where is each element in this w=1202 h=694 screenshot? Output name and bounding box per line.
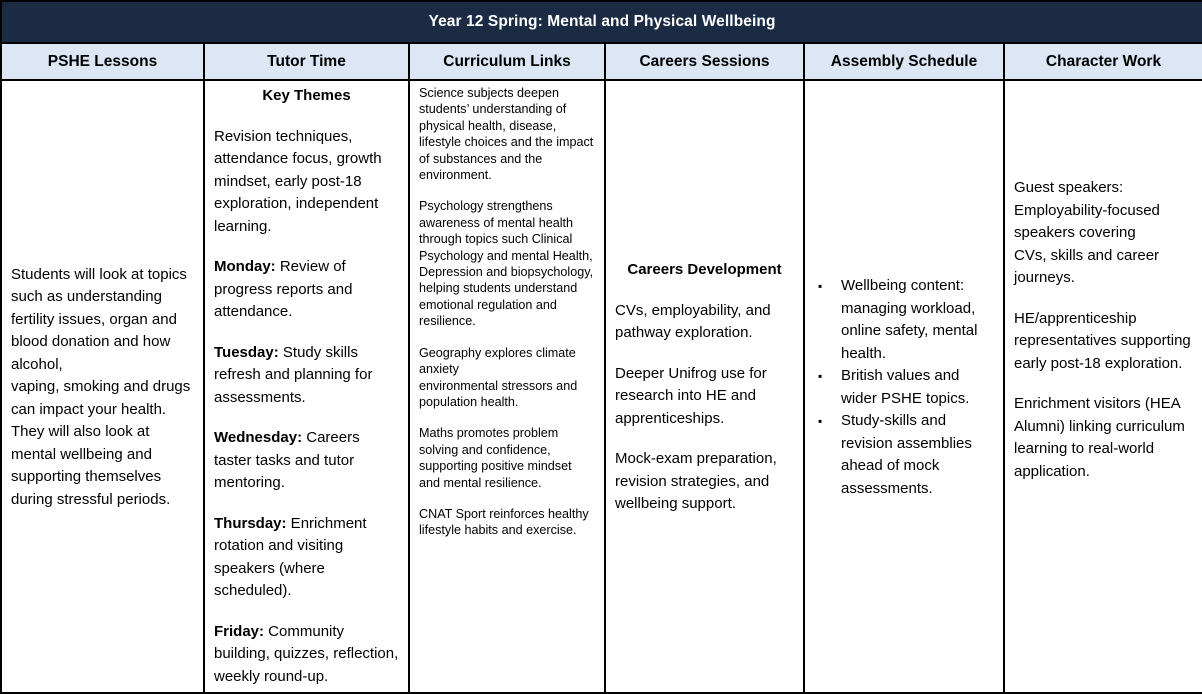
tutor-day-tuesday: Tuesday: Study skills refresh and planni… bbox=[214, 342, 399, 410]
assembly-bullet-wellbeing: Wellbeing content: managing workload, on… bbox=[841, 277, 977, 362]
cell-pshe-lessons: Students will look at topics such as und… bbox=[1, 80, 204, 693]
assembly-bullet-list: ▪Wellbeing content: managing workload, o… bbox=[811, 275, 994, 500]
curriculum-paragraph-psychology: Psychology strengthens awareness of ment… bbox=[419, 198, 596, 329]
column-header-character-work: Character Work bbox=[1004, 43, 1202, 80]
tutor-day-wednesday: Wednesday: Careers taster tasks and tuto… bbox=[214, 427, 399, 495]
list-item: ▪Wellbeing content: managing workload, o… bbox=[841, 275, 994, 365]
table-title-row: Year 12 Spring: Mental and Physical Well… bbox=[1, 1, 1202, 43]
assembly-bullet-british-values: British values and wider PSHE topics. bbox=[841, 367, 969, 407]
column-header-tutor-time: Tutor Time bbox=[204, 43, 409, 80]
curriculum-plan-table: Year 12 Spring: Mental and Physical Well… bbox=[0, 0, 1202, 694]
cell-careers-sessions: Careers Development CVs, employability, … bbox=[605, 80, 804, 693]
day-label-thursday: Thursday: bbox=[214, 515, 287, 532]
day-label-tuesday: Tuesday: bbox=[214, 344, 279, 361]
careers-development-heading: Careers Development bbox=[615, 259, 794, 282]
day-label-wednesday: Wednesday: bbox=[214, 429, 302, 446]
character-paragraph-enrichment: Enrichment visitors (HEA Alumni) linking… bbox=[1014, 393, 1193, 483]
column-header-curriculum-links: Curriculum Links bbox=[409, 43, 605, 80]
table-body-row: Students will look at topics such as und… bbox=[1, 80, 1202, 693]
character-paragraph-guest-speakers: Guest speakers: Employability-focused sp… bbox=[1014, 177, 1193, 290]
list-item: ▪British values and wider PSHE topics. bbox=[841, 365, 994, 410]
day-label-friday: Friday: bbox=[214, 623, 264, 640]
column-header-assembly-schedule: Assembly Schedule bbox=[804, 43, 1004, 80]
tutor-intro-paragraph: Revision techniques, attendance focus, g… bbox=[214, 126, 399, 239]
table-header-row: PSHE Lessons Tutor Time Curriculum Links… bbox=[1, 43, 1202, 80]
cell-character-work: Guest speakers: Employability-focused sp… bbox=[1004, 80, 1202, 693]
pshe-paragraph: Students will look at topics such as und… bbox=[11, 264, 194, 512]
curriculum-paragraph-science: Science subjects deepen students’ unders… bbox=[419, 85, 596, 183]
curriculum-paragraph-geography: Geography explores climate anxiety envir… bbox=[419, 345, 596, 411]
curriculum-paragraph-maths: Maths promotes problem solving and confi… bbox=[419, 425, 596, 491]
square-bullet-icon: ▪ bbox=[818, 365, 822, 388]
column-header-careers-sessions: Careers Sessions bbox=[605, 43, 804, 80]
tutor-day-friday: Friday: Community building, quizzes, ref… bbox=[214, 621, 399, 689]
cell-tutor-time: Key Themes Revision techniques, attendan… bbox=[204, 80, 409, 693]
page-root: Year 12 Spring: Mental and Physical Well… bbox=[0, 0, 1202, 602]
page-title: Year 12 Spring: Mental and Physical Well… bbox=[1, 1, 1202, 43]
careers-paragraph-cvs: CVs, employability, and pathway explorat… bbox=[615, 300, 794, 345]
careers-paragraph-mock-exam: Mock-exam preparation, revision strategi… bbox=[615, 448, 794, 516]
square-bullet-icon: ▪ bbox=[818, 410, 822, 433]
list-item: ▪Study-skills and revision assemblies ah… bbox=[841, 410, 994, 500]
cell-assembly-schedule: ▪Wellbeing content: managing workload, o… bbox=[804, 80, 1004, 693]
tutor-day-monday: Monday: Review of progress reports and a… bbox=[214, 256, 399, 324]
character-paragraph-he-reps: HE/apprenticeship representatives suppor… bbox=[1014, 308, 1193, 376]
column-header-pshe-lessons: PSHE Lessons bbox=[1, 43, 204, 80]
assembly-bullet-study-skills: Study-skills and revision assemblies ahe… bbox=[841, 412, 972, 497]
tutor-key-themes-heading: Key Themes bbox=[214, 85, 399, 108]
curriculum-paragraph-cnat-sport: CNAT Sport reinforces healthy lifestyle … bbox=[419, 506, 596, 539]
square-bullet-icon: ▪ bbox=[818, 275, 822, 298]
day-label-monday: Monday: bbox=[214, 258, 276, 275]
cell-curriculum-links: Science subjects deepen students’ unders… bbox=[409, 80, 605, 693]
careers-paragraph-unifrog: Deeper Unifrog use for research into HE … bbox=[615, 363, 794, 431]
tutor-day-thursday: Thursday: Enrichment rotation and visiti… bbox=[214, 513, 399, 603]
